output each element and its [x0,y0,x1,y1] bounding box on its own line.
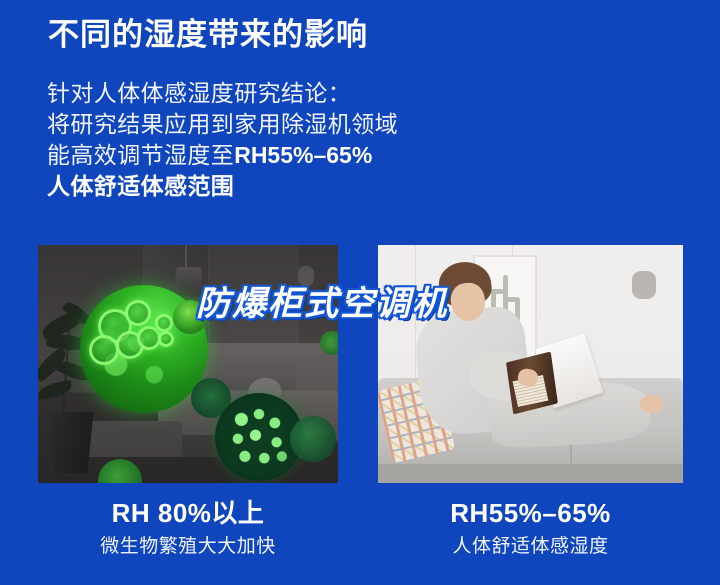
germ-sphere-icon [320,331,338,355]
wall-speaker-icon [632,271,656,299]
body-line-1: 针对人体体感湿度研究结论： [47,78,477,109]
body-line-3-value: RH55%–65% [234,142,372,168]
page-title: 不同的湿度带来的影响 [48,16,368,55]
watermark-product-name: 防爆柜式空调机 [196,276,448,325]
caption-comfort-humidity-value: RH55%–65% [378,497,683,529]
body-line-2: 将研究结果应用到家用除湿机领域 [47,109,477,140]
caption-comfort-humidity-description: 人体舒适体感湿度 [378,535,683,559]
couch-base [378,464,683,483]
caption-comfort-humidity: RH55%–65% 人体舒适体感湿度 [378,497,683,559]
humidity-infographic-poster: 不同的湿度带来的影响 针对人体体感湿度研究结论： 将研究结果应用到家用除湿机领域… [0,0,720,585]
caption-high-humidity-value: RH 80%以上 [38,497,338,529]
caption-high-humidity-description: 微生物繁殖大大加快 [38,535,338,559]
germ-cell-icon [125,300,151,326]
body-line-3: 能高效调节湿度至RH55%–65% [47,140,477,171]
germ-cell-icon [158,331,174,347]
caption-high-humidity: RH 80%以上 微生物繁殖大大加快 [38,497,338,559]
person-foot [640,395,662,413]
body-copy-block: 针对人体体感湿度研究结论： 将研究结果应用到家用除湿机领域 能高效调节湿度至RH… [47,78,477,202]
body-line-4: 人体舒适体感范围 [47,171,477,202]
germ-cell-icon [155,314,173,332]
body-line-3-lead: 能高效调节湿度至 [47,142,234,168]
